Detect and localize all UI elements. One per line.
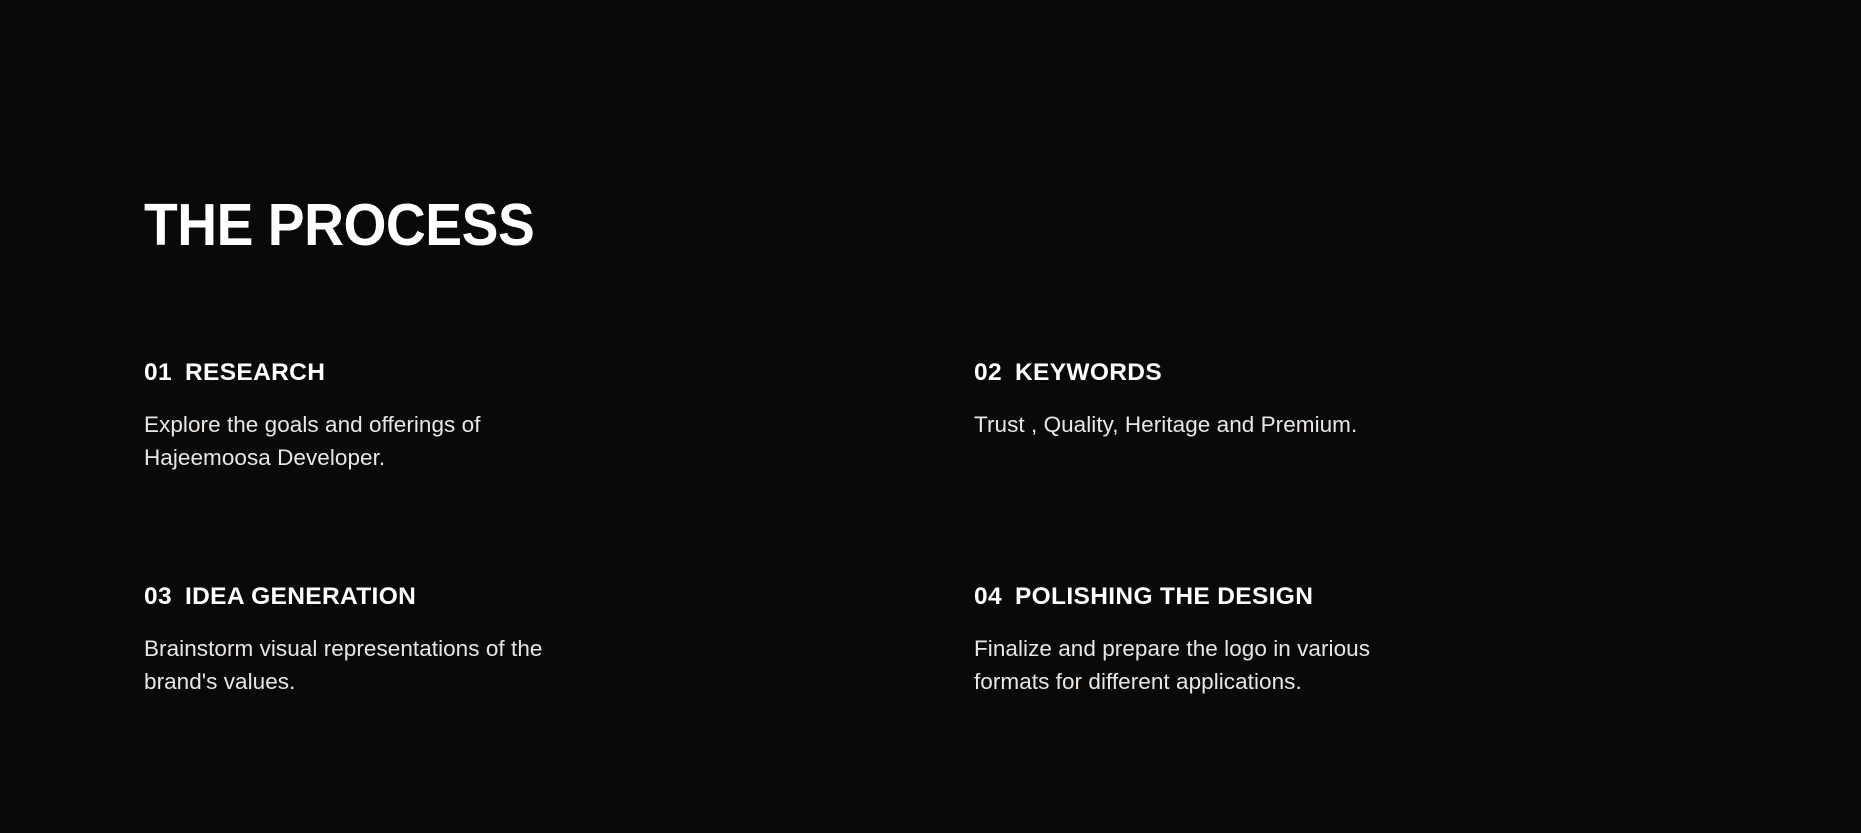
process-step-03-description: Brainstorm visual representations of the… [144,632,664,698]
process-step-03-label: IDEA GENERATION [185,583,416,610]
process-step-01-heading: 01RESEARCH [144,360,974,387]
slide-the-process: THE PROCESS 01RESEARCH Explore the goals… [0,0,1861,833]
process-step-03: 03IDEA GENERATION Brainstorm visual repr… [144,584,974,698]
process-step-01-description: Explore the goals and offerings of Hajee… [144,408,664,474]
process-step-03-number: 03 [144,583,172,610]
process-step-02-number: 02 [974,359,1002,386]
process-step-01: 01RESEARCH Explore the goals and offerin… [144,360,974,474]
process-step-03-heading: 03IDEA GENERATION [144,584,974,611]
process-step-04-number: 04 [974,583,1002,610]
process-step-02-heading: 02KEYWORDS [974,360,1724,387]
process-step-04-description: Finalize and prepare the logo in various… [974,632,1534,698]
page-title: THE PROCESS [144,196,534,255]
process-step-grid: 01RESEARCH Explore the goals and offerin… [144,360,1724,698]
process-step-04: 04POLISHING THE DESIGN Finalize and prep… [974,584,1724,698]
process-step-04-heading: 04POLISHING THE DESIGN [974,584,1724,611]
process-step-02-description: Trust , Quality, Heritage and Premium. [974,408,1534,441]
process-step-02-label: KEYWORDS [1015,359,1162,386]
process-step-01-number: 01 [144,359,172,386]
process-step-01-label: RESEARCH [185,359,325,386]
process-step-02: 02KEYWORDS Trust , Quality, Heritage and… [974,360,1724,474]
process-step-04-label: POLISHING THE DESIGN [1015,583,1313,610]
